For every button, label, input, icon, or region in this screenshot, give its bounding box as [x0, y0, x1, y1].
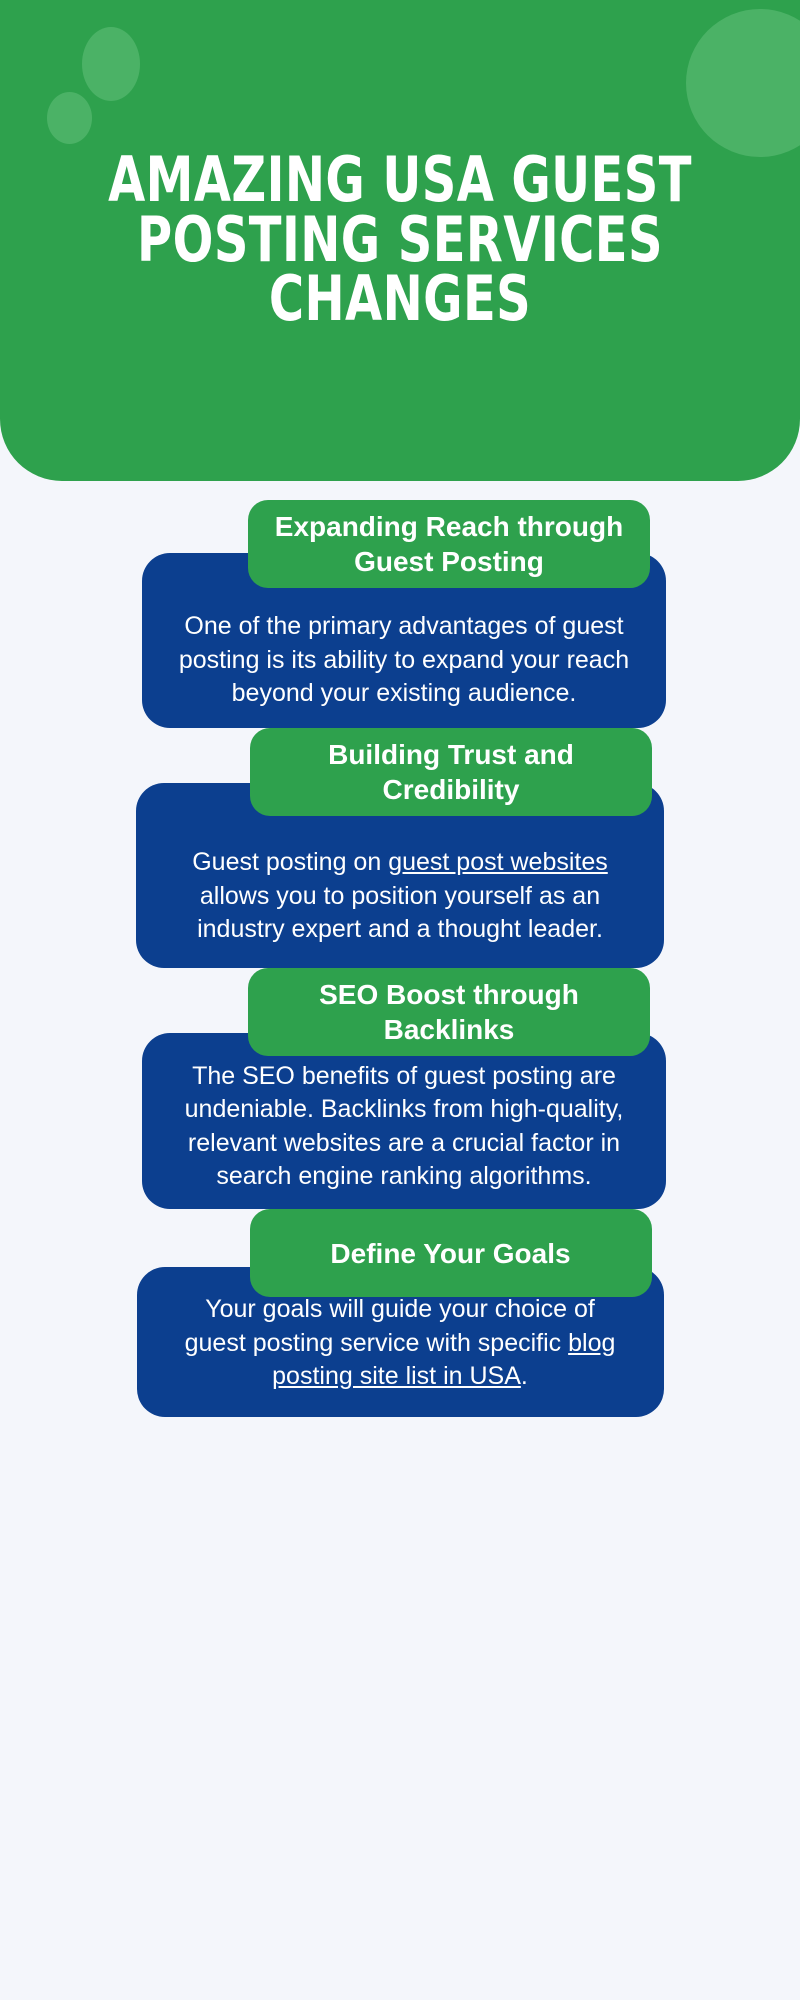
card-title: Building Trust and Credibility: [250, 728, 652, 816]
card-seo-boost: SEO Boost through Backlinks The SEO bene…: [138, 1033, 662, 1209]
card-body-text: Your goals will guide your choice of gue…: [173, 1293, 628, 1393]
inline-link[interactable]: blog posting site list in USA: [272, 1329, 615, 1390]
page-title-line-1: AMAZING USA GUEST: [106, 150, 694, 210]
card-title: SEO Boost through Backlinks: [248, 968, 650, 1056]
card-define-goals: Define Your Goals Your goals will guide …: [137, 1267, 664, 1417]
page-title-line-3: CHANGES: [106, 269, 694, 329]
header-banner: AMAZING USA GUEST POSTING SERVICES CHANG…: [0, 0, 800, 481]
card-title: Expanding Reach through Guest Posting: [248, 500, 650, 588]
card-expanding-reach: Expanding Reach through Guest Posting On…: [138, 553, 662, 728]
page-title-line-2: POSTING SERVICES: [106, 210, 694, 270]
circle-small-lower-icon: [47, 92, 92, 144]
card-body-text: The SEO benefits of guest posting are un…: [178, 1060, 630, 1193]
circle-large-right-icon: [686, 9, 800, 157]
card-body-text: One of the primary advantages of guest p…: [178, 610, 630, 710]
card-title: Define Your Goals: [250, 1209, 652, 1297]
inline-link[interactable]: guest post websites: [388, 848, 608, 876]
page-title: AMAZING USA GUEST POSTING SERVICES CHANG…: [56, 150, 744, 329]
card-body-text: Guest posting on guest post websites all…: [172, 846, 628, 946]
card-list: Expanding Reach through Guest Posting On…: [0, 481, 800, 1417]
card-building-trust: Building Trust and Credibility Guest pos…: [136, 783, 664, 968]
card-body: The SEO benefits of guest posting are un…: [142, 1033, 666, 1209]
circle-small-top-icon: [82, 27, 140, 101]
